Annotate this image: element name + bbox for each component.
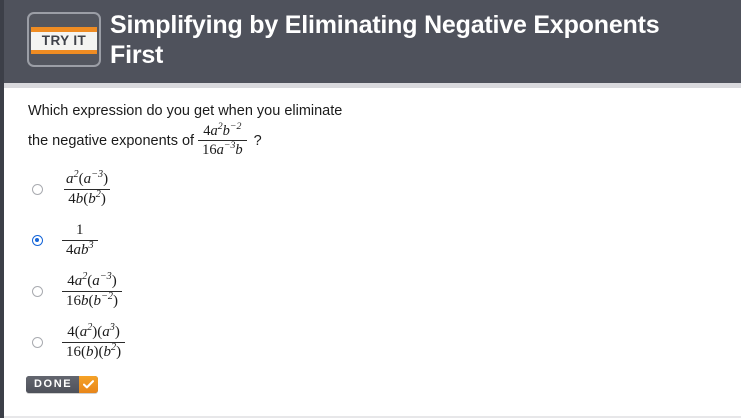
question-panel: Which expression do you get when you eli… [0, 88, 741, 418]
question-line-1: Which expression do you get when you eli… [28, 99, 628, 123]
page-header: TRY IT Simplifying by Eliminating Negati… [0, 0, 741, 83]
check-icon [79, 376, 98, 393]
done-button[interactable]: DONE [26, 376, 98, 393]
option-b-expression: 1 4ab3 [62, 222, 98, 259]
option-b-row[interactable]: 1 4ab3 [28, 215, 448, 266]
option-c-row[interactable]: 4a2(a−3) 16b(b−2) [28, 266, 448, 317]
question-text: Which expression do you get when you eli… [28, 99, 628, 158]
radio-option-c[interactable] [32, 286, 43, 297]
question-mark: ? [254, 129, 262, 153]
left-edge-rail [0, 0, 4, 418]
done-button-label: DONE [26, 376, 79, 393]
expression-denominator: 16a−3b [198, 140, 247, 158]
radio-option-d[interactable] [32, 337, 43, 348]
expression-numerator: 4a2b−2 [199, 123, 245, 140]
question-expression: 4a2b−2 16a−3b [198, 123, 247, 158]
option-a-expression: a2(a−3) 4b(b2) [62, 171, 112, 208]
answer-options: a2(a−3) 4b(b2) 1 4ab3 [28, 164, 448, 368]
try-it-badge: TRY IT [27, 12, 101, 67]
page-title: Simplifying by Eliminating Negative Expo… [110, 10, 710, 70]
radio-option-a[interactable] [32, 184, 43, 195]
option-a-row[interactable]: a2(a−3) 4b(b2) [28, 164, 448, 215]
question-line-2: the negative exponents of 4a2b−2 16a−3b … [28, 123, 628, 158]
option-d-expression: 4(a2)(a3) 16(b)(b2) [62, 324, 125, 361]
question-line-2-text: the negative exponents of [28, 129, 194, 153]
option-c-expression: 4a2(a−3) 16b(b−2) [62, 273, 122, 310]
radio-option-b[interactable] [32, 235, 43, 246]
option-d-row[interactable]: 4(a2)(a3) 16(b)(b2) [28, 317, 448, 368]
badge-label: TRY IT [42, 34, 86, 48]
quiz-page: TRY IT Simplifying by Eliminating Negati… [0, 0, 741, 418]
badge-band: TRY IT [31, 32, 97, 50]
